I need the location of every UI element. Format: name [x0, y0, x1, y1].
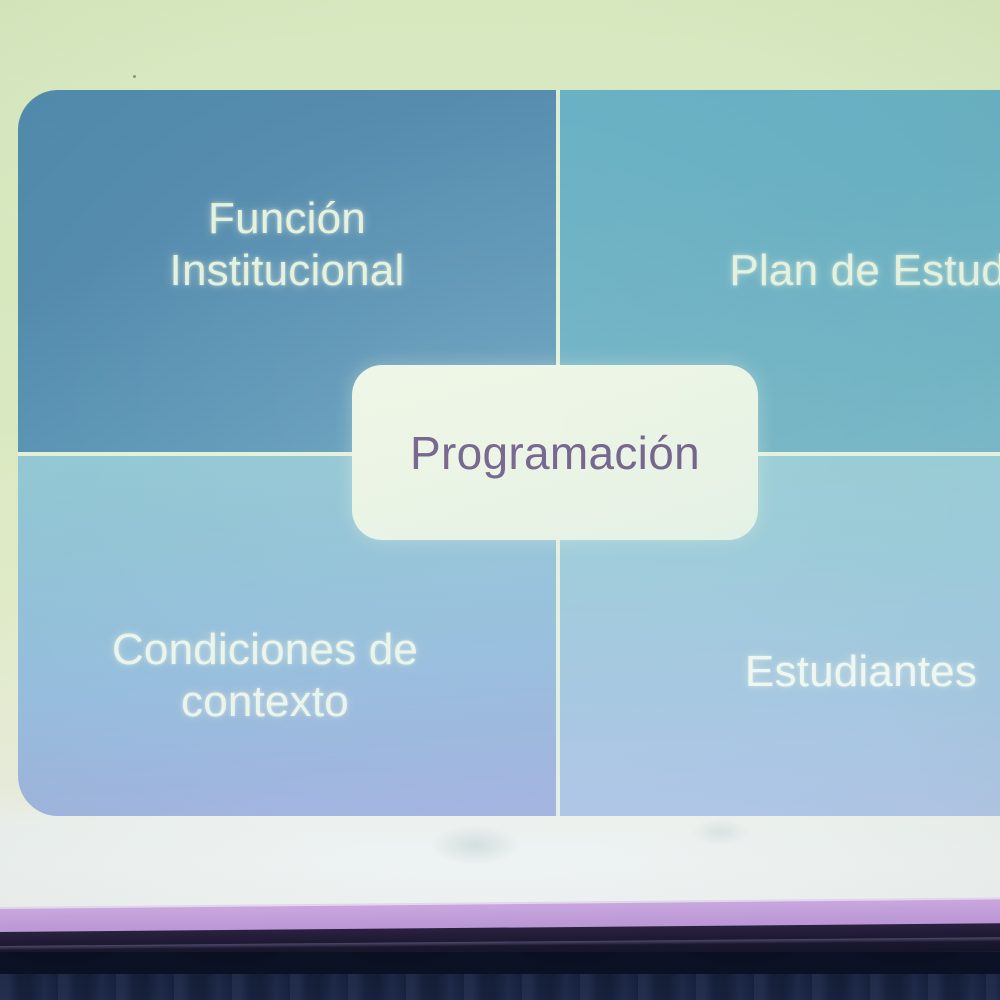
center-node-card: Programación — [352, 365, 758, 540]
curtain-scalloped-valance — [0, 952, 1000, 974]
quadrant-bottom-left-label: Condiciones decontexto — [112, 624, 418, 728]
quadrant-bottom-right-label: Estudiantes — [745, 646, 977, 698]
center-node-label: Programación — [410, 426, 700, 480]
quadrant-top-left-label: FunciónInstitucional — [170, 193, 405, 297]
dust-speck — [133, 75, 136, 78]
screen-smudge — [430, 825, 520, 865]
photograph-of-projected-slide: FunciónInstitucional Plan de Estudio Con… — [0, 0, 1000, 1000]
quadrant-top-right-label: Plan de Estudio — [729, 245, 1000, 297]
stage-curtain — [0, 952, 1000, 1000]
screen-smudge-secondary — [690, 818, 750, 846]
